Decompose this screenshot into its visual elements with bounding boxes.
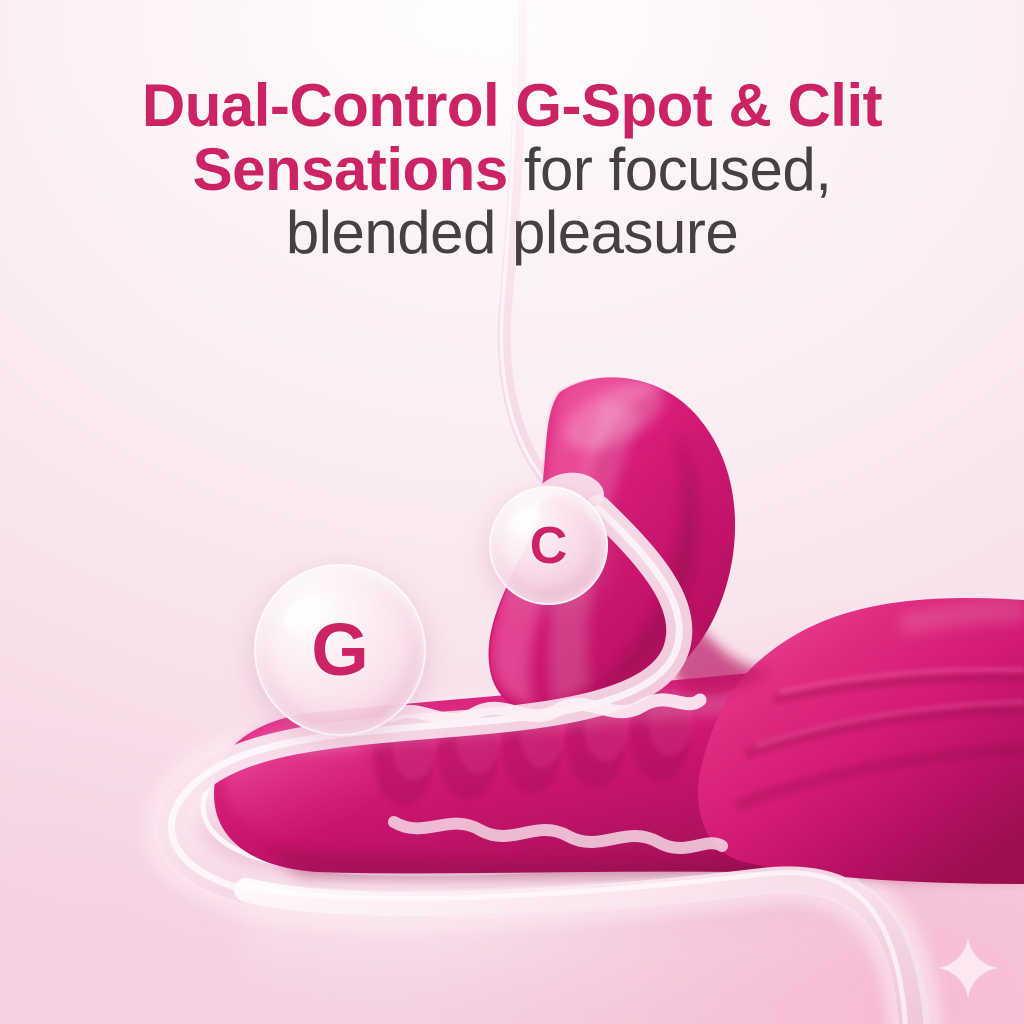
headline-line-3: blended pleasure — [52, 201, 972, 265]
clit-marker-bubble[interactable]: C — [489, 486, 608, 605]
product-feature-graphic: G C Dual-Control G-Spot & Clit Sensation… — [0, 0, 1024, 1024]
sparkle-icon — [936, 936, 1000, 1000]
g-spot-marker-bubble[interactable]: G — [254, 564, 426, 736]
headline: Dual-Control G-Spot & Clit Sensations fo… — [0, 74, 1024, 265]
clit-marker-label: C — [530, 520, 568, 572]
headline-line-2: Sensations for focused, — [52, 138, 972, 202]
headline-line-2-strong: Sensations — [193, 136, 508, 203]
ribbon-plate-sheen — [220, 892, 884, 1024]
headline-line-3-normal: blended pleasure — [286, 199, 738, 266]
headline-line-1-strong: Dual-Control G-Spot & Clit — [142, 72, 882, 139]
headline-line-1: Dual-Control G-Spot & Clit — [52, 74, 972, 138]
headline-line-2-normal: for focused, — [508, 136, 832, 203]
g-spot-marker-label: G — [311, 613, 369, 687]
product-body — [698, 598, 1024, 884]
